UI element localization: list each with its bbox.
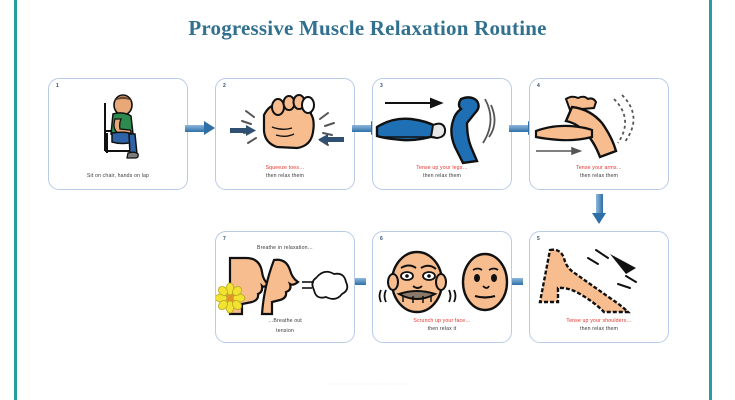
step-panel-5[interactable]: 5 Tense up your shoulders… then relax th… bbox=[529, 231, 669, 343]
step-panel-1[interactable]: 1 bbox=[48, 78, 188, 190]
left-teal-rule bbox=[14, 0, 17, 400]
step-number-6: 6 bbox=[380, 236, 383, 242]
breathing-profile-faces-icon bbox=[216, 256, 354, 316]
person-sitting-on-chair-icon bbox=[49, 93, 187, 165]
legs-tensing-icon bbox=[373, 93, 511, 165]
scrunched-and-relaxed-faces-icon bbox=[373, 246, 511, 318]
step-caption-3-line1: Tense up your legs… bbox=[377, 165, 507, 172]
shoulders-tensing-icon bbox=[530, 246, 668, 318]
step-number-4: 4 bbox=[537, 83, 540, 89]
step-caption-4-line2: then relax them bbox=[534, 173, 664, 180]
poster-canvas: Progressive Muscle Relaxation Routine 1 bbox=[0, 0, 735, 400]
step-caption-2-line1: Squeeze toes… bbox=[220, 165, 350, 172]
step-panel-4[interactable]: 4 Tense your arms… bbox=[529, 78, 669, 190]
step-caption-5-line1: Tense up your shoulders… bbox=[534, 318, 664, 325]
step-panel-7[interactable]: 7 Breathe in relaxation… bbox=[215, 231, 355, 343]
arm-tensing-icon bbox=[530, 93, 668, 165]
step-caption-2-line2: then relax them bbox=[220, 173, 350, 180]
step-caption-7-line3: tension bbox=[220, 328, 350, 335]
step-number-1: 1 bbox=[56, 83, 59, 89]
step-caption-4-line1: Tense your arms… bbox=[534, 165, 664, 172]
step-number-7: 7 bbox=[223, 236, 226, 242]
right-teal-rule bbox=[709, 0, 712, 400]
arrow-4-to-5 bbox=[592, 194, 606, 224]
foot-toes-icon bbox=[216, 93, 354, 165]
step-number-3: 3 bbox=[380, 83, 383, 89]
arrow-1-to-2 bbox=[185, 121, 215, 135]
step-caption-3-line2: then relax them bbox=[377, 173, 507, 180]
page-title: Progressive Muscle Relaxation Routine bbox=[0, 16, 735, 41]
step-caption-7-line1: Breathe in relaxation… bbox=[220, 245, 350, 252]
step-caption-5-line2: then relax them bbox=[534, 326, 664, 333]
footer-note: Progressive Muscle Relaxation Routine bbox=[0, 381, 735, 386]
step-caption-6-line2: then relax it bbox=[377, 326, 507, 333]
step-number-5: 5 bbox=[537, 236, 540, 242]
step-caption-1: Sit on chair, hands on lap bbox=[53, 173, 183, 180]
step-caption-6-line1: Scrunch up your face… bbox=[377, 318, 507, 325]
step-panel-6[interactable]: 6 bbox=[372, 231, 512, 343]
step-caption-7-line2: …Breathe out bbox=[220, 318, 350, 325]
step-panel-2[interactable]: 2 bbox=[215, 78, 355, 190]
step-number-2: 2 bbox=[223, 83, 226, 89]
step-panel-3[interactable]: 3 Tense up bbox=[372, 78, 512, 190]
